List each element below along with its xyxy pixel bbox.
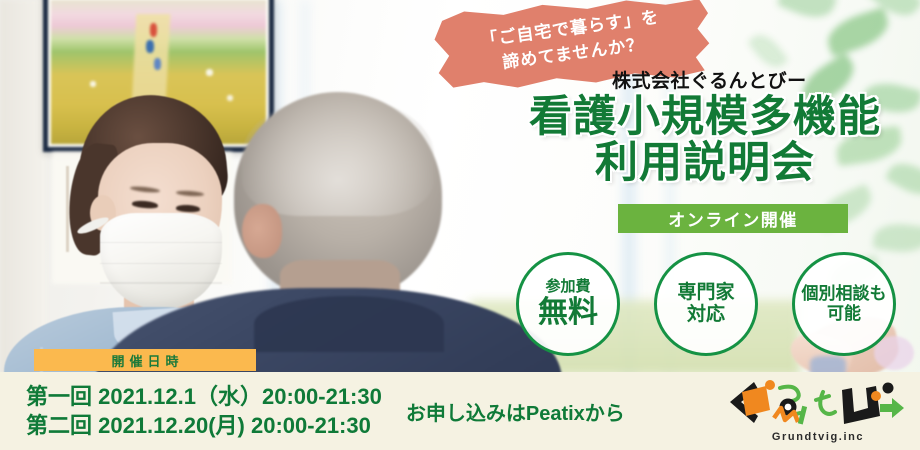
title-line-1: 看護小規模多機能 [529, 93, 881, 141]
title-line-2: 利用説明会 [505, 140, 905, 186]
event-dates: 第一回 2021.12.1（水）20:00-21:30 第二回 2021.12.… [26, 382, 382, 440]
person-elderly [196, 92, 526, 392]
badge-expert-line2: 対応 [687, 304, 725, 326]
poster-root: 「ご自宅で暮らす」を 諦めてませんか？ 株式会社ぐるんとびー 看護小規模多機能 … [0, 0, 920, 450]
company-logo: Grundtvig.inc [728, 374, 908, 446]
apply-instruction: お申し込みはPeatixから [406, 397, 625, 426]
event-date-2: 第二回 2021.12.20(月) 20:00-21:30 [26, 411, 382, 440]
badge-fee-value: 無料 [538, 295, 598, 330]
logo-caption: Grundtvig.inc [728, 431, 908, 443]
company-name: 株式会社ぐるんとびー [612, 66, 807, 93]
bottom-info-bar: 第一回 2021.12.1（水）20:00-21:30 第二回 2021.12.… [0, 372, 920, 450]
badge-fee-label: 参加費 [545, 278, 590, 296]
event-date-1: 第一回 2021.12.1（水）20:00-21:30 [26, 382, 382, 411]
badge-consultation: 個別相談も 可能 [792, 252, 896, 356]
online-event-badge: オンライン開催 [618, 204, 848, 233]
page-title: 看護小規模多機能 利用説明会 [505, 94, 905, 187]
grundtvig-logo-mark [728, 376, 908, 426]
badge-expert: 専門家 対応 [654, 252, 758, 356]
badge-fee: 参加費 無料 [516, 252, 620, 356]
badge-consultation-line1: 個別相談も [802, 284, 887, 304]
date-tab-label: 開催日時 [34, 349, 256, 371]
badge-expert-line1: 専門家 [677, 282, 734, 304]
badge-consultation-line2: 可能 [827, 304, 861, 324]
